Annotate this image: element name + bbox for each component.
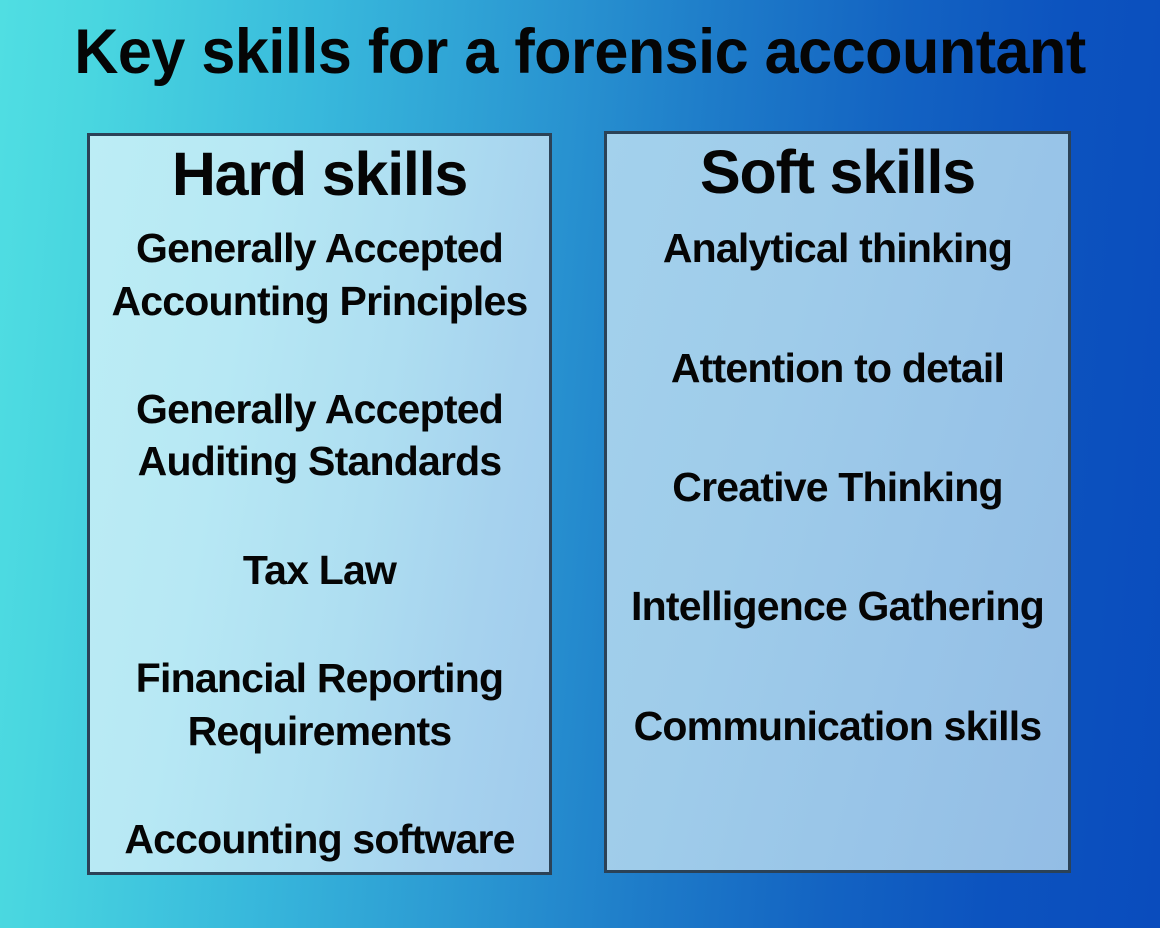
hard-skills-list: Generally Accepted Accounting Principles… — [90, 222, 549, 866]
list-item: Tax Law — [90, 544, 549, 596]
soft-skills-panel-content: Soft skills Analytical thinking Attentio… — [607, 134, 1068, 870]
list-item: Generally Accepted Accounting Principles — [90, 222, 549, 327]
list-item: Accounting software — [90, 813, 549, 865]
page-title: Key skills for a forensic accountant — [17, 18, 1142, 87]
list-item: Creative Thinking — [607, 461, 1068, 513]
list-item: Attention to detail — [607, 342, 1068, 394]
list-item: Intelligence Gathering — [607, 580, 1068, 632]
slide-canvas: Key skills for a forensic accountant Har… — [0, 0, 1160, 928]
hard-skills-heading: Hard skills — [90, 136, 549, 206]
hard-skills-panel-content: Hard skills Generally Accepted Accountin… — [90, 136, 549, 872]
list-item: Communication skills — [607, 700, 1068, 752]
soft-skills-heading: Soft skills — [607, 134, 1068, 204]
soft-skills-list: Analytical thinking Attention to detail … — [607, 222, 1068, 752]
hard-skills-panel: Hard skills Generally Accepted Accountin… — [87, 133, 552, 875]
list-item: Financial Reporting Requirements — [90, 652, 549, 757]
list-item: Analytical thinking — [607, 222, 1068, 274]
list-item: Generally Accepted Auditing Standards — [90, 383, 549, 488]
soft-skills-panel: Soft skills Analytical thinking Attentio… — [604, 131, 1071, 873]
